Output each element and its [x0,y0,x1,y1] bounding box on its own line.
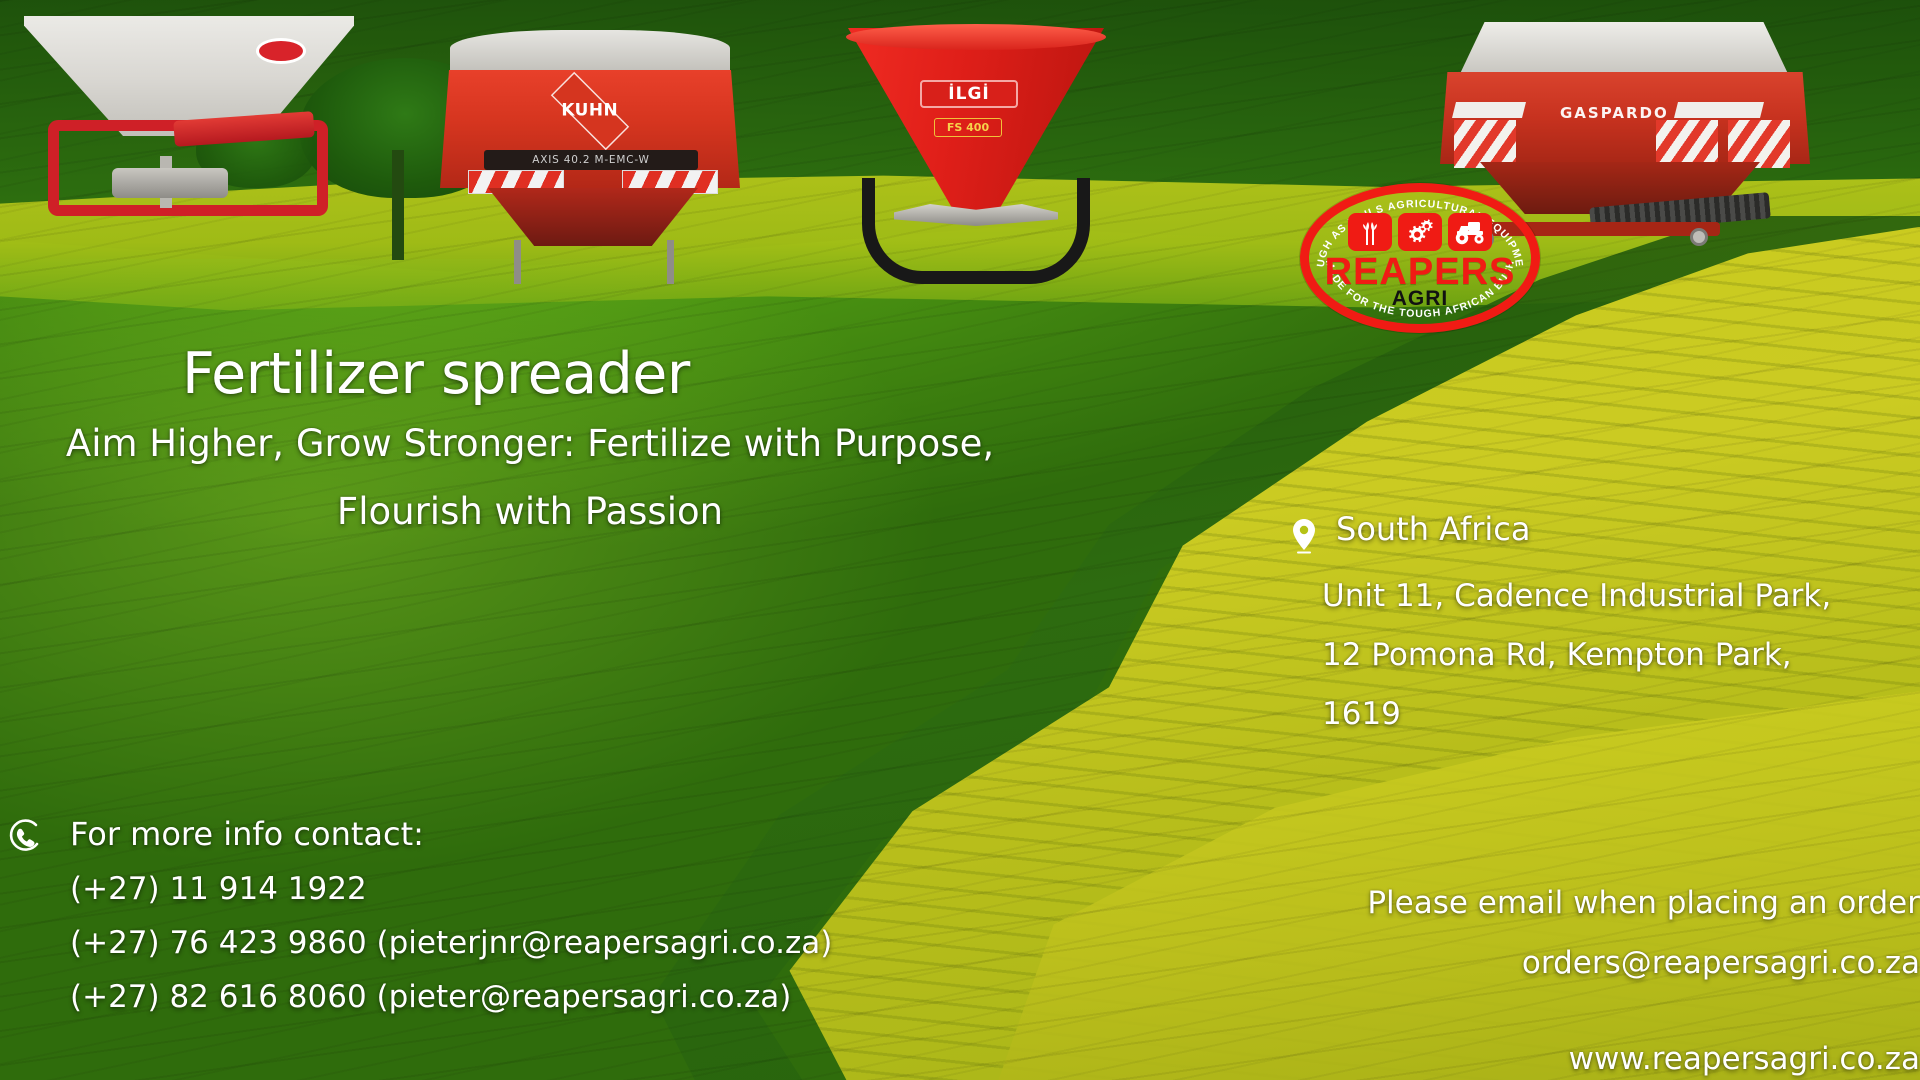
logo-brand-name: REAPERS [1300,253,1540,291]
spreading-disc [112,168,228,198]
ilgi-brand-badge: İLGİ [920,80,1018,108]
contact-phone-2[interactable]: (+27) 76 423 9860 (pieterjnr@reapersagri… [70,925,1070,961]
gaspardo-brand-text: GASPARDO [1560,104,1669,122]
contact-phone-1[interactable]: (+27) 11 914 1922 [70,871,1070,907]
website-link[interactable]: www.reapersagri.co.za [1569,1041,1920,1077]
hazard-panel-right [1728,120,1790,168]
address-line-1: Unit 11, Cadence Industrial Park, [1322,578,1831,614]
kuhn-brand-text: KUHN [562,101,619,121]
advertisement-poster: KUHN AXIS 40.2 M-EMC-W İLGİ FS 400 GASPA… [0,0,1920,1080]
contact-phone-3[interactable]: (+27) 82 616 8060 (pieter@reapersagri.co… [70,979,1070,1015]
logo-brand-sub: AGRI [1300,287,1540,311]
three-point-frame [862,178,1090,284]
tagline: Aim Higher, Grow Stronger: Fertilize wit… [0,410,1060,547]
hopper-funnel [488,188,698,246]
model-plate: AXIS 40.2 M-EMC-W [484,150,698,170]
contact-heading: For more info contact: [70,815,1070,853]
machine-ilgi-cone-spreader: İLGİ FS 400 [848,28,1108,298]
reflector-stripe-left [1452,102,1526,118]
wheat-icon [1348,213,1392,251]
machine-kuhn-axis-spreader: KUHN AXIS 40.2 M-EMC-W [440,30,750,270]
hopper-cover [1458,22,1790,78]
brand-badge-icon [256,38,306,64]
location-pin-icon [1290,518,1318,554]
tagline-line-2: Flourish with Passion [0,478,1060,546]
support-wheel [1690,228,1708,246]
location-country: South Africa [1336,510,1530,548]
machine-disc-spreader-grey-hopper [24,16,364,246]
phone-icon [6,819,42,855]
hopper-cover [450,30,730,76]
gears-icon [1398,213,1442,251]
ilgi-model-badge: FS 400 [934,118,1002,137]
hazard-panel-left [1454,120,1516,168]
hazard-panel-mid [1656,120,1718,168]
tagline-line-1: Aim Higher, Grow Stronger: Fertilize wit… [0,410,1060,478]
reapers-agri-logo: TOUGH AS NAILS AGRICULTURAL EQUIPMENT MA… [1300,183,1540,333]
tractor-icon [1448,213,1492,251]
order-note: Please email when placing an order [1367,885,1920,921]
page-title: Fertilizer spreader [182,341,690,407]
contact-block: For more info contact: (+27) 11 914 1922… [0,815,1000,1033]
address-line-2: 12 Pomona Rd, Kempton Park, [1322,637,1792,673]
support-legs [514,240,674,284]
reflector-stripe-right [1674,102,1764,118]
address-line-3: 1619 [1322,696,1401,732]
order-email[interactable]: orders@reapersagri.co.za [1522,945,1920,981]
hopper-rim [846,24,1106,50]
logo-icon-tiles [1348,213,1492,251]
tree-trunk [392,150,404,260]
